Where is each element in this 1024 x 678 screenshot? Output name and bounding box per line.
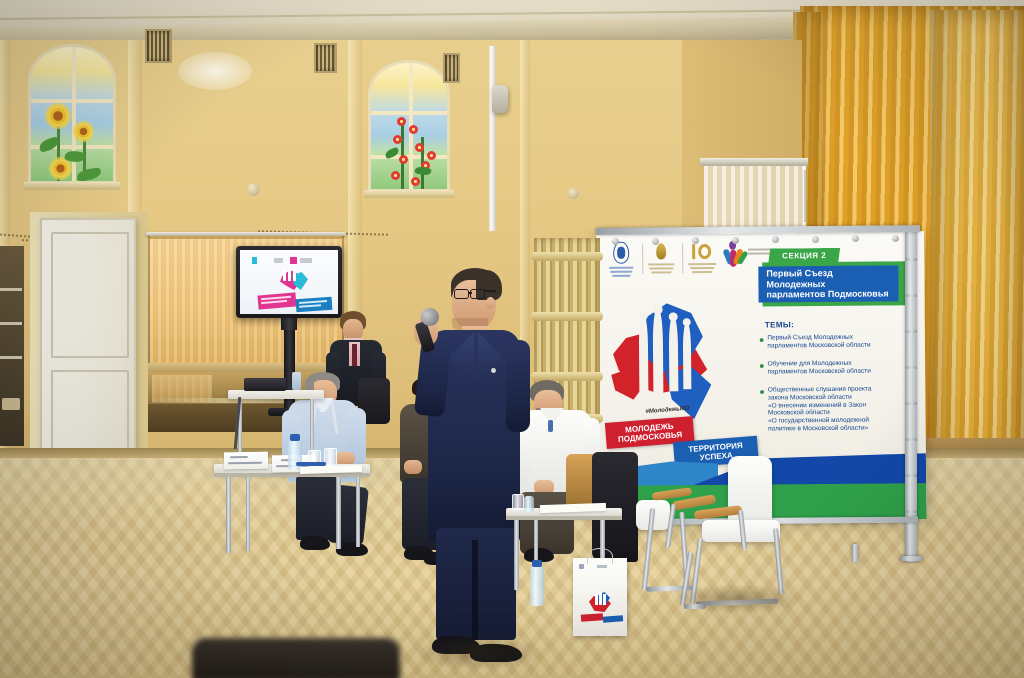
badge-blue-line2: УСПЕХА: [699, 451, 733, 463]
bullet-dot-icon: ●: [759, 335, 765, 351]
panel-table-leg-2: [246, 477, 250, 551]
wall-paint-patch: [178, 52, 252, 90]
bullet-text-3: Общественные слушания проекта закона Мос…: [768, 386, 872, 434]
bottle-cap: [290, 434, 300, 441]
logo-glavnoe: [648, 243, 674, 273]
logo-map-figures: [609, 297, 728, 422]
drinking-glass-3: [512, 494, 524, 510]
mural-window-sill-left: [24, 182, 120, 190]
wall-vent-3: [443, 53, 460, 83]
logo-mo: [688, 243, 716, 273]
banner-bullet-2: ● Обучение для Молодежных парламентов Мо…: [759, 359, 915, 376]
panel-table-leg-4: [356, 477, 360, 547]
panel-table-edge: [214, 473, 370, 477]
mural-window-sill-right: [364, 190, 454, 198]
door-white[interactable]: [40, 218, 136, 462]
bullet-text-1: Первый Съезд Молодежных парламентов Моск…: [767, 334, 870, 350]
wall-fixture-2: [568, 188, 579, 199]
glasses-icon: [454, 289, 469, 299]
banner-title-line2: парламентов Подмосковья: [766, 289, 888, 301]
gold-curtain-lit: [930, 10, 1024, 480]
logo-government: [608, 242, 634, 276]
sheer-curtain-lower: [152, 372, 212, 402]
banner-foot-right: [900, 556, 922, 561]
wall-vent-1: [145, 29, 172, 63]
mural-window-redflowers: [368, 60, 450, 192]
white-chair-main-back[interactable]: [728, 456, 772, 530]
shelf-3: [0, 356, 22, 359]
banner-truss-right: [905, 232, 917, 562]
window-rod-right-2: [700, 158, 808, 166]
side-table-right-leg-1: [514, 520, 519, 590]
small-bottle-right: [524, 496, 534, 512]
tv-stand-pole: [284, 330, 295, 412]
panel-table-leg-1: [226, 477, 231, 553]
banner-foot-post: [852, 544, 858, 562]
wall-fixture: [247, 183, 260, 196]
left-niche: [0, 246, 24, 446]
bottle-rear: [292, 372, 301, 390]
name-card-1: [224, 452, 268, 470]
shelf-2: [0, 322, 22, 325]
stage-lip: [148, 363, 344, 372]
wall-speaker-left: [492, 85, 508, 113]
mural-window-sunflowers: [28, 44, 116, 184]
bullet-dot-icon-2: ●: [759, 361, 765, 377]
projector-device: [244, 378, 286, 391]
side-table-rear: [228, 390, 324, 399]
shelf-item: [2, 398, 20, 410]
banner-title: Первый Съезд Молодежных парламентов Подм…: [758, 265, 898, 302]
banner-themes-heading: ТЕМЫ:: [765, 320, 794, 329]
foreground-blur-object: [192, 638, 400, 678]
logo-divider-1: [642, 244, 643, 274]
bullet-dot-icon-3: ●: [759, 387, 765, 434]
banner-bullet-1: ● Первый Съезд Молодежных парламентов Мо…: [759, 333, 915, 350]
wall-vent-2: [314, 43, 337, 73]
shelf-1: [0, 288, 22, 291]
tv-stand-neck: [281, 318, 297, 330]
vertical-pipe: [489, 46, 496, 231]
lapel-pin: [491, 368, 496, 373]
banner-title-line1: Первый Съезд Молодежных: [766, 267, 890, 290]
tv-display[interactable]: [236, 246, 342, 318]
water-bottle-floor: [530, 566, 544, 606]
photo-scene: #МолодежьМО МОЛОДЕЖЬ ПОДМОСКОВЬЯ ТЕРРИТО…: [0, 0, 1024, 678]
bullet-text-2: Обучение для Молодежных парламентов Моск…: [768, 360, 871, 376]
panel-table-leg-3: [336, 477, 341, 549]
banner-bullet-3: ● Общественные слушания проекта закона М…: [759, 385, 919, 433]
folder-blue: [296, 462, 326, 466]
logo-divider-2: [682, 243, 683, 273]
branded-paper-bag: [573, 558, 627, 636]
